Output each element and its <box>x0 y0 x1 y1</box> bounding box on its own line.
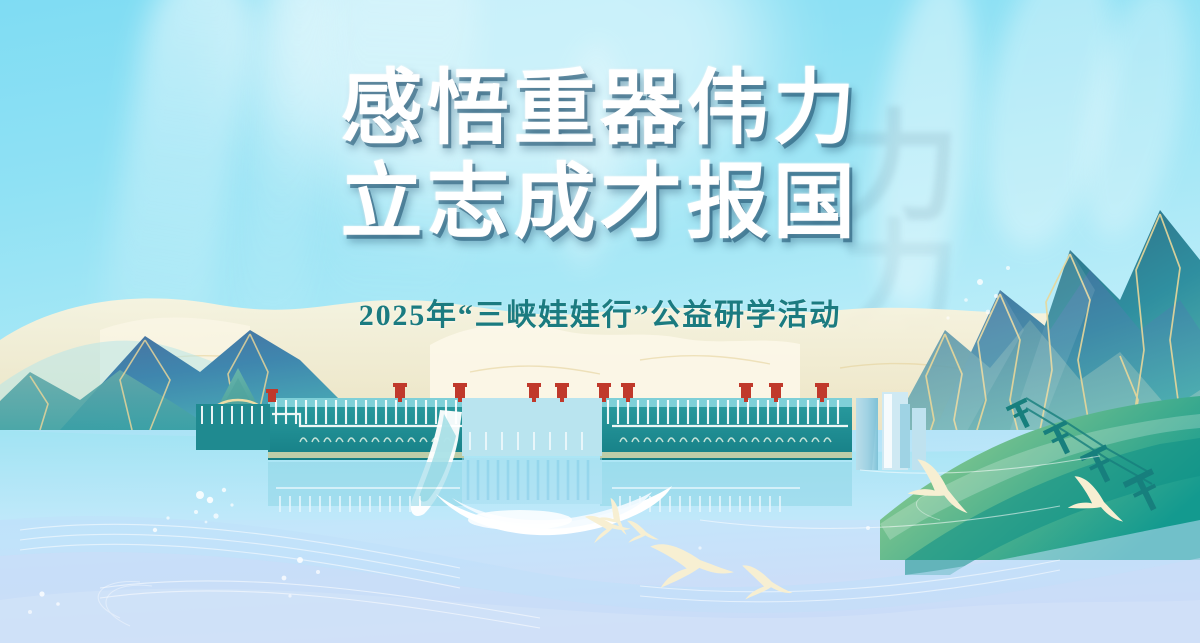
title-block: 感悟重器伟力 立志成才报国 <box>0 62 1200 250</box>
poster-banner: 力 力 <box>0 0 1200 643</box>
subtitle: 2025年“三峡娃娃行”公益研学活动 <box>0 290 1200 334</box>
title-line-1: 感悟重器伟力 <box>0 62 1200 156</box>
dam-reflection <box>268 458 852 512</box>
title-line-2: 立志成才报国 <box>0 156 1200 250</box>
